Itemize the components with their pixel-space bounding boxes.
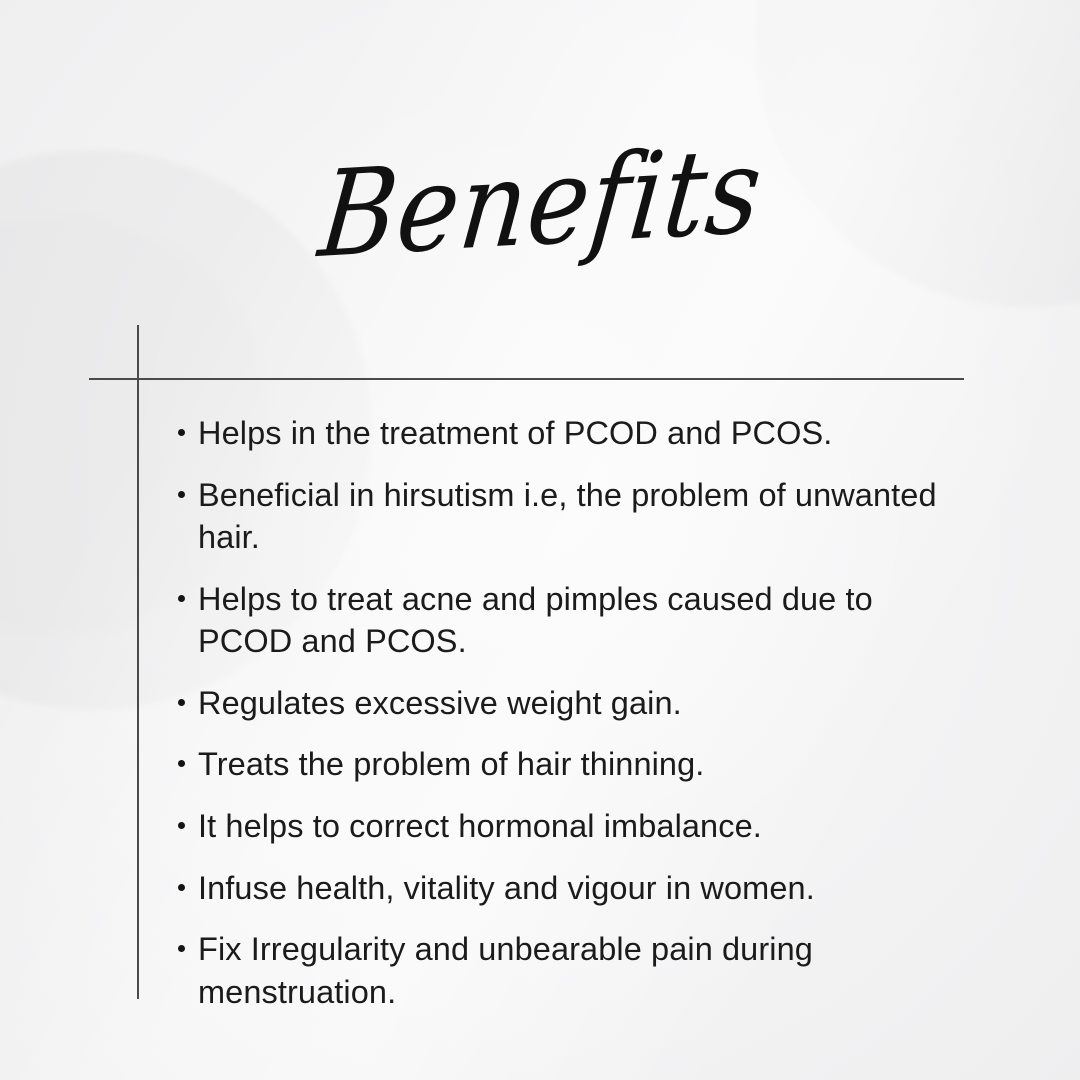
bullet-dot-icon: [178, 429, 185, 436]
benefit-item-label: It helps to correct hormonal imbalance.: [198, 808, 762, 844]
benefit-item-label: Fix Irregularity and unbearable pain dur…: [198, 931, 813, 1010]
benefit-item-label: Helps in the treatment of PCOD and PCOS.: [198, 415, 832, 451]
benefits-list: Helps in the treatment of PCOD and PCOS.…: [172, 412, 972, 1032]
bullet-dot-icon: [178, 491, 185, 498]
vertical-divider-line: [137, 325, 139, 999]
benefit-item: It helps to correct hormonal imbalance.: [172, 805, 972, 848]
benefit-item-label: Infuse health, vitality and vigour in wo…: [198, 870, 815, 906]
benefit-item-label: Helps to treat acne and pimples caused d…: [198, 581, 873, 660]
bullet-dot-icon: [178, 822, 185, 829]
benefit-item-label: Regulates excessive weight gain.: [198, 685, 682, 721]
benefit-item-label: Treats the problem of hair thinning.: [198, 746, 704, 782]
benefit-item: Beneficial in hirsutism i.e, the problem…: [172, 474, 972, 559]
benefits-poster: Benefits Helps in the treatment of PCOD …: [0, 0, 1080, 1080]
bullet-dot-icon: [178, 760, 185, 767]
bullet-dot-icon: [178, 945, 185, 952]
benefit-item: Helps to treat acne and pimples caused d…: [172, 578, 972, 663]
page-title: Benefits: [315, 128, 768, 278]
bullet-dot-icon: [178, 699, 185, 706]
benefit-item-label: Beneficial in hirsutism i.e, the problem…: [198, 477, 937, 556]
bullet-dot-icon: [178, 595, 185, 602]
benefit-item: Fix Irregularity and unbearable pain dur…: [172, 928, 972, 1013]
horizontal-divider-line: [89, 378, 964, 380]
benefit-item: Regulates excessive weight gain.: [172, 682, 972, 725]
benefit-item: Treats the problem of hair thinning.: [172, 743, 972, 786]
benefit-item: Helps in the treatment of PCOD and PCOS.: [172, 412, 972, 455]
bullet-dot-icon: [178, 884, 185, 891]
title-container: Benefits: [0, 150, 1080, 259]
benefit-item: Infuse health, vitality and vigour in wo…: [172, 867, 972, 910]
